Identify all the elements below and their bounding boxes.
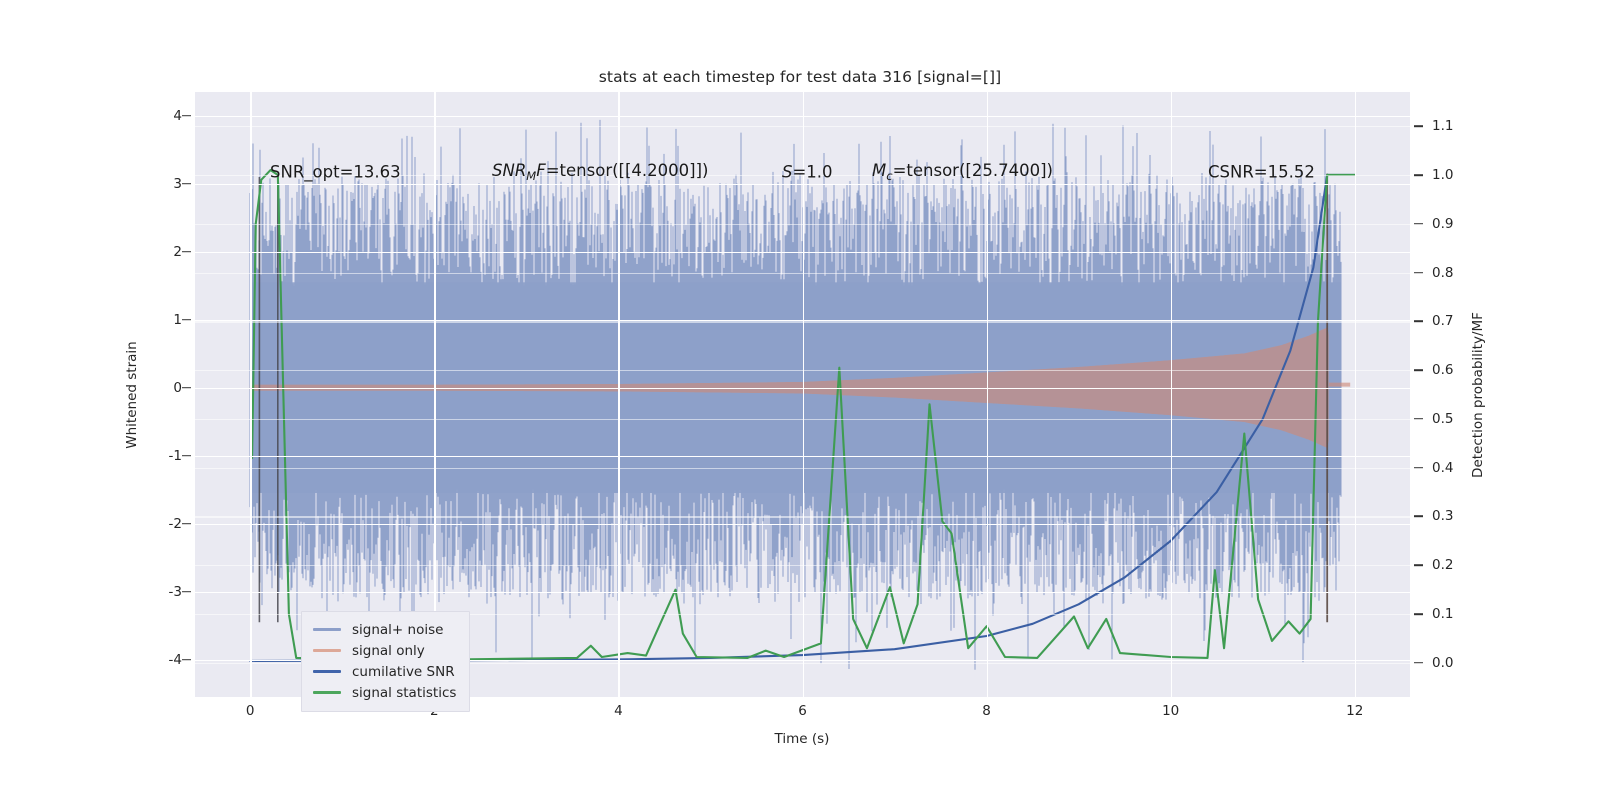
plot-area xyxy=(195,92,1410,697)
secondary-y-tick-mark xyxy=(1414,613,1423,615)
annotation-mc-rest: =tensor([25.7400]) xyxy=(893,161,1053,180)
secondary-y-tick-mark xyxy=(1414,125,1423,127)
secondary-y-tick-mark xyxy=(1414,467,1423,469)
secondary-y-tick-label: 0.5 xyxy=(1432,411,1502,427)
x-tick-label: 8 xyxy=(957,703,1017,719)
y-tick-mark xyxy=(182,183,191,185)
y-tick-label: 3 xyxy=(122,176,182,192)
legend-item-label: cumilative SNR xyxy=(352,664,455,680)
secondary-y-tick-label: 0.3 xyxy=(1432,508,1502,524)
legend-item-label: signal statistics xyxy=(352,685,456,701)
secondary-y-tick-mark xyxy=(1414,272,1423,274)
x-axis-label: Time (s) xyxy=(775,731,830,747)
secondary-y-tick-mark xyxy=(1414,369,1423,371)
y-tick-label: 2 xyxy=(122,244,182,260)
secondary-y-tick-label: 1.1 xyxy=(1432,118,1502,134)
legend-item-label: signal+ noise xyxy=(352,622,443,638)
y-tick-label: -2 xyxy=(122,516,182,532)
annotation-snr-mf-sub: M xyxy=(526,169,536,183)
y-tick-label: 0 xyxy=(122,380,182,396)
legend-item[interactable]: signal statistics xyxy=(313,682,456,703)
gridline-vertical xyxy=(803,92,805,697)
y-tick-mark xyxy=(182,115,191,117)
x-tick-label: 10 xyxy=(1141,703,1201,719)
y-tick-label: -1 xyxy=(122,448,182,464)
annotation-mc-prefix: M xyxy=(872,161,886,180)
annotation-snr-mf-rest-italic: F xyxy=(536,161,546,180)
chart-title: stats at each timestep for test data 316… xyxy=(0,68,1600,86)
secondary-y-axis-label: Detection probability/MF xyxy=(1470,312,1486,478)
y-tick-mark xyxy=(182,659,191,661)
secondary-y-tick-mark xyxy=(1414,174,1423,176)
annotation-snr-mf-rest: =tensor([[4.2000]]) xyxy=(546,161,709,180)
y-tick-mark xyxy=(182,455,191,457)
secondary-y-tick-mark xyxy=(1414,223,1423,225)
y-tick-label: 4 xyxy=(122,108,182,124)
annotation-s-rest: =1.0 xyxy=(792,163,832,182)
secondary-y-tick-label: 0.2 xyxy=(1432,557,1502,573)
secondary-y-tick-label: 0.9 xyxy=(1432,216,1502,232)
secondary-y-tick-label: 0.4 xyxy=(1432,460,1502,476)
legend-color-swatch xyxy=(313,670,341,673)
annotation-s-value: S=1.0 xyxy=(782,163,833,182)
gridline-vertical xyxy=(1171,92,1173,697)
gridline-vertical xyxy=(1355,92,1357,697)
secondary-y-tick-mark xyxy=(1414,321,1423,323)
y-tick-label: -4 xyxy=(122,652,182,668)
gridline-vertical xyxy=(434,92,436,697)
secondary-y-tick-label: 1.0 xyxy=(1432,167,1502,183)
y-tick-mark xyxy=(182,591,191,593)
secondary-y-tick-mark xyxy=(1414,662,1423,664)
legend-item[interactable]: signal+ noise xyxy=(313,619,456,640)
secondary-y-tick-label: 0.1 xyxy=(1432,606,1502,622)
annotation-mc: Mc=tensor([25.7400]) xyxy=(872,161,1053,183)
x-tick-label: 0 xyxy=(220,703,280,719)
secondary-y-tick-label: 0.6 xyxy=(1432,362,1502,378)
annotation-s-italic: S xyxy=(782,163,792,182)
chart-legend[interactable]: signal+ noisesignal onlycumilative SNRsi… xyxy=(301,611,470,712)
annotation-snr-mf: SNRMF=tensor([[4.2000]]) xyxy=(492,161,708,183)
y-tick-mark xyxy=(182,387,191,389)
secondary-y-tick-mark xyxy=(1414,516,1423,518)
annotation-snr-opt: SNR_opt=13.63 xyxy=(270,163,401,182)
annotation-snr-mf-prefix: SNR xyxy=(492,161,526,180)
legend-item-label: signal only xyxy=(352,643,425,659)
legend-item[interactable]: signal only xyxy=(313,640,456,661)
legend-color-swatch xyxy=(313,649,341,652)
y-tick-mark xyxy=(182,251,191,253)
secondary-y-tick-label: 0.7 xyxy=(1432,313,1502,329)
x-tick-label: 4 xyxy=(588,703,648,719)
y-tick-mark xyxy=(182,523,191,525)
secondary-y-tick-mark xyxy=(1414,418,1423,420)
secondary-y-tick-label: 0.0 xyxy=(1432,655,1502,671)
legend-color-swatch xyxy=(313,628,341,631)
gridline-vertical xyxy=(250,92,252,697)
y-tick-mark xyxy=(182,319,191,321)
secondary-y-tick-label: 0.8 xyxy=(1432,265,1502,281)
secondary-y-tick-mark xyxy=(1414,564,1423,566)
y-tick-label: 1 xyxy=(122,312,182,328)
legend-color-swatch xyxy=(313,691,341,694)
x-tick-label: 12 xyxy=(1325,703,1385,719)
legend-item[interactable]: cumilative SNR xyxy=(313,661,456,682)
x-tick-label: 6 xyxy=(773,703,833,719)
annotation-csnr: CSNR=15.52 xyxy=(1208,163,1315,182)
figure-canvas: stats at each timestep for test data 316… xyxy=(0,0,1600,800)
y-tick-label: -3 xyxy=(122,584,182,600)
